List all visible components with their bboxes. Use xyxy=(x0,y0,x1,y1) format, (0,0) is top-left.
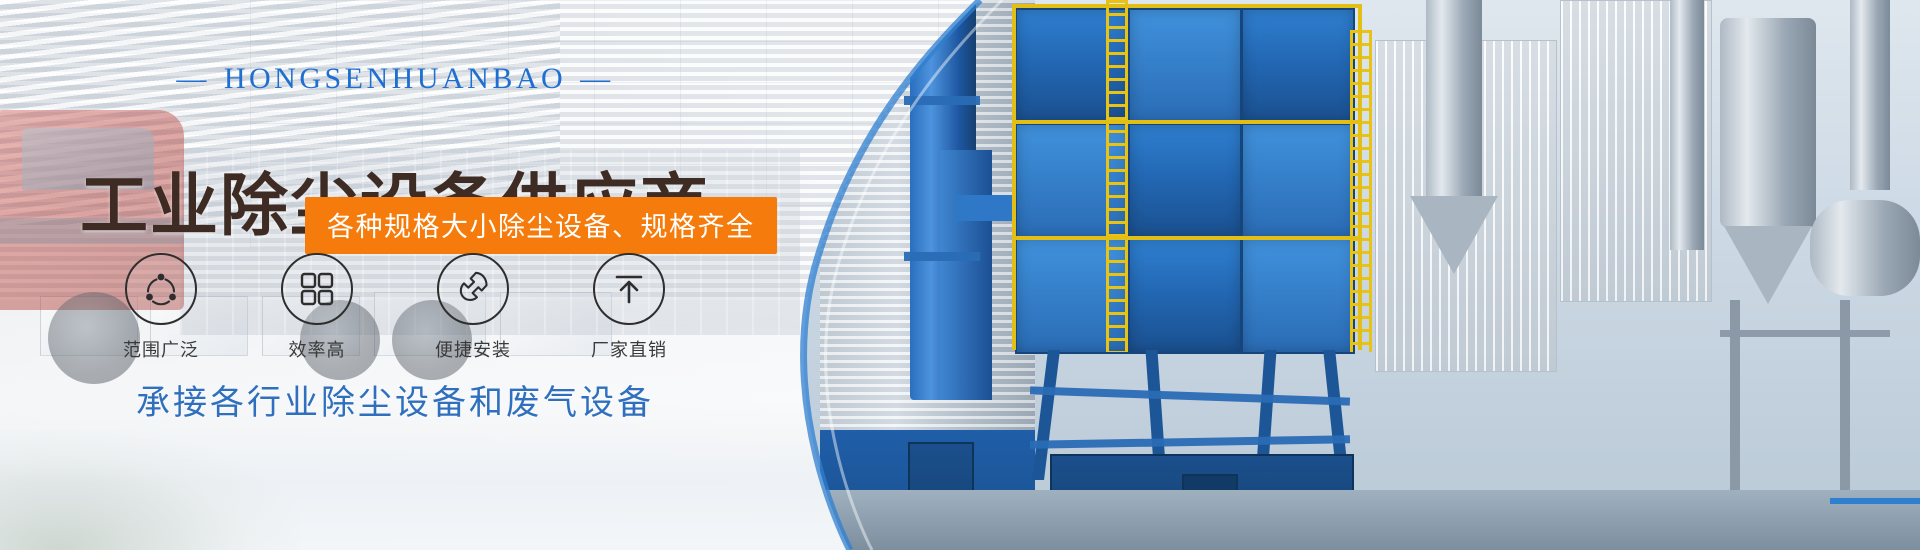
cyclone-cone xyxy=(1724,226,1812,304)
cyclone-body xyxy=(1720,18,1816,228)
stack-pipe xyxy=(1670,0,1704,250)
banner-tagline: 承接各行业除尘设备和废气设备 xyxy=(0,375,790,424)
feature-icon-circle xyxy=(437,253,509,325)
feature-item-easy-install[interactable]: 便捷安装 xyxy=(425,253,521,362)
feature-icon-circle xyxy=(593,253,665,325)
feature-list: 范围广泛 效率高 xyxy=(0,253,790,362)
feature-label: 范围广泛 xyxy=(113,336,209,362)
wrench-icon xyxy=(453,269,493,309)
kicker-dash-right: — xyxy=(580,62,614,96)
steel-frame xyxy=(1840,300,1850,490)
handrail xyxy=(1012,236,1360,240)
cyclone-cone xyxy=(1410,196,1498,274)
horizontal-vessel xyxy=(1810,200,1920,296)
baghouse-module xyxy=(1128,8,1242,124)
ground-handrail xyxy=(1830,498,1920,504)
handrail xyxy=(1012,120,1360,124)
feature-item-high-efficiency[interactable]: 效率高 xyxy=(269,253,365,362)
banner-text-block: —HONGSENHUANBAO— 工业除尘设备供应商 各种规格大小除尘设备、规格… xyxy=(0,0,1060,550)
feature-icon-circle xyxy=(125,253,197,325)
baghouse-module xyxy=(1241,8,1355,124)
brand-kicker: —HONGSENHUANBAO— xyxy=(0,62,790,96)
feature-item-wide-range[interactable]: 范围广泛 xyxy=(113,253,209,362)
handrail xyxy=(1012,4,1360,8)
steel-crossbeam xyxy=(1720,330,1890,337)
steel-frame xyxy=(1730,300,1740,490)
feature-label: 效率高 xyxy=(269,336,365,362)
arrow-up-bar-icon xyxy=(611,271,647,307)
handrail-post xyxy=(1358,4,1362,350)
feature-item-factory-direct[interactable]: 厂家直销 xyxy=(581,253,677,362)
stack-pipe xyxy=(1850,0,1890,190)
subtitle-badge: 各种规格大小除尘设备、规格齐全 xyxy=(305,197,777,254)
silo xyxy=(1426,0,1482,200)
baghouse-module xyxy=(1241,123,1355,239)
baghouse-module xyxy=(1241,238,1355,354)
hero-banner: —HONGSENHUANBAO— 工业除尘设备供应商 各种规格大小除尘设备、规格… xyxy=(0,0,1920,550)
share-network-icon xyxy=(141,269,181,309)
kicker-dash-left: — xyxy=(176,62,210,96)
access-ladder xyxy=(1106,0,1128,352)
feature-label: 便捷安装 xyxy=(425,336,521,362)
baghouse-module xyxy=(1128,123,1242,239)
baghouse-module xyxy=(1128,238,1242,354)
subtitle-badge-label: 各种规格大小除尘设备、规格齐全 xyxy=(327,212,755,242)
kicker-text: HONGSENHUANBAO xyxy=(224,62,566,95)
feature-label: 厂家直销 xyxy=(581,336,677,362)
feature-icon-circle xyxy=(281,253,353,325)
grid-four-squares-icon xyxy=(299,271,335,307)
